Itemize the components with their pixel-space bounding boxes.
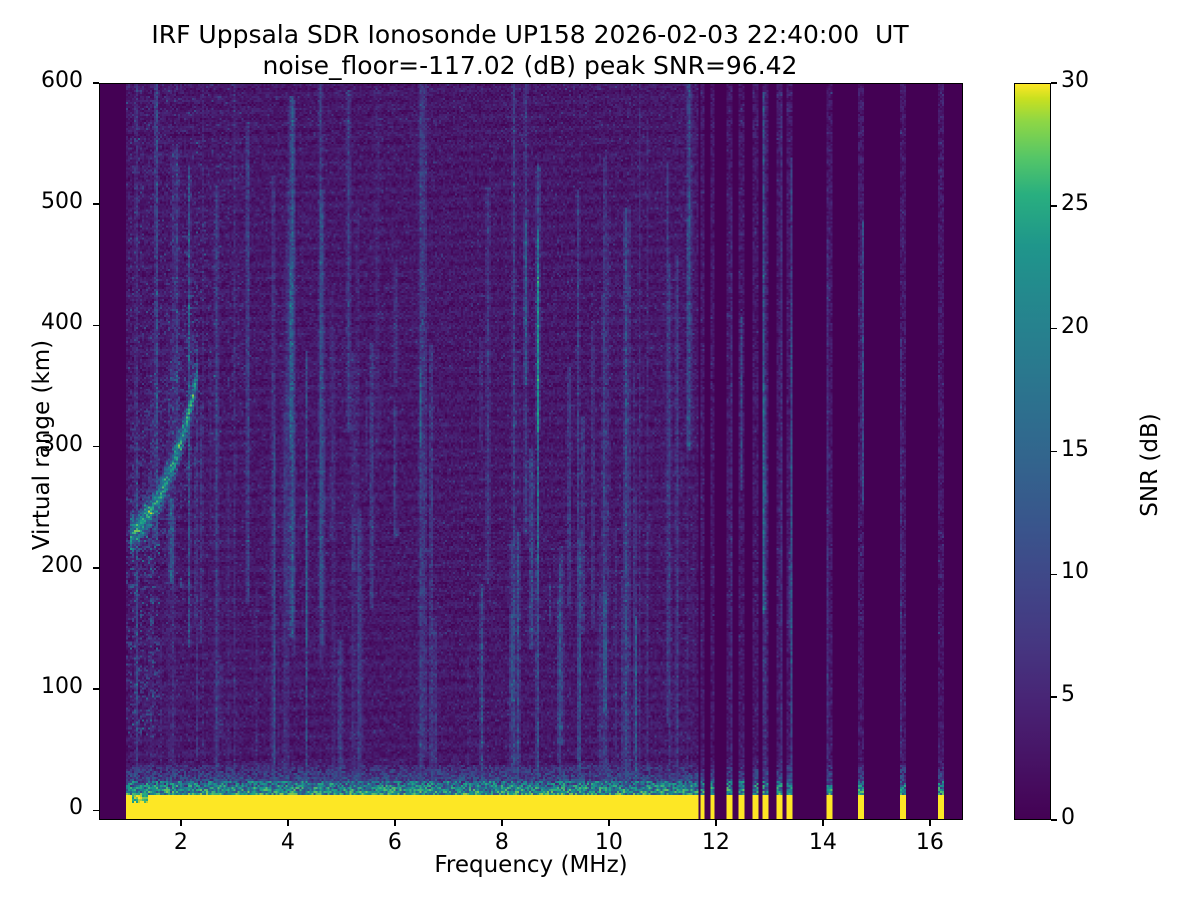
x-tick-mark [287, 820, 289, 826]
y-tick-mark [93, 325, 99, 327]
colorbar-tick-mark [1051, 328, 1057, 330]
colorbar-tick-mark [1051, 82, 1057, 84]
y-axis-label: Virtual range (km) [29, 295, 55, 595]
y-tick-mark [93, 810, 99, 812]
x-axis-label: Frequency (MHz) [99, 852, 963, 878]
colorbar-tick-label: 30 [1061, 68, 1131, 93]
colorbar-tick-mark [1051, 819, 1057, 821]
y-tick-mark [93, 82, 99, 84]
y-tick-mark [93, 203, 99, 205]
title-line-1: IRF Uppsala SDR Ionosonde UP158 2026-02-… [0, 20, 1060, 51]
y-tick-mark [93, 567, 99, 569]
y-tick-label: 0 [13, 795, 83, 820]
colorbar-tick-label: 25 [1061, 191, 1131, 216]
colorbar-tick-mark [1051, 574, 1057, 576]
colorbar-tick-mark [1051, 451, 1057, 453]
x-tick-mark [608, 820, 610, 826]
colorbar-tick-label: 0 [1061, 805, 1131, 830]
y-tick-mark [93, 688, 99, 690]
y-tick-label: 500 [13, 189, 83, 214]
x-tick-mark [180, 820, 182, 826]
y-tick-mark [93, 446, 99, 448]
y-tick-label: 100 [13, 674, 83, 699]
y-tick-label: 600 [13, 68, 83, 93]
colorbar-label: SNR (dB) [1137, 315, 1163, 615]
x-tick-mark [501, 820, 503, 826]
ionogram-heatmap [100, 84, 962, 819]
title-line-2: noise_floor=-117.02 (dB) peak SNR=96.42 [0, 51, 1060, 82]
x-tick-mark [394, 820, 396, 826]
colorbar-tick-label: 20 [1061, 314, 1131, 339]
x-tick-mark [929, 820, 931, 826]
ionogram-figure: IRF Uppsala SDR Ionosonde UP158 2026-02-… [0, 0, 1200, 900]
colorbar-tick-label: 15 [1061, 437, 1131, 462]
x-tick-mark [715, 820, 717, 826]
colorbar-tick-mark [1051, 205, 1057, 207]
ionogram-plot-area[interactable] [99, 83, 963, 820]
x-tick-mark [822, 820, 824, 826]
colorbar-tick-label: 5 [1061, 682, 1131, 707]
colorbar-tick-label: 10 [1061, 559, 1131, 584]
colorbar-tick-mark [1051, 696, 1057, 698]
colorbar[interactable] [1014, 83, 1051, 820]
figure-title: IRF Uppsala SDR Ionosonde UP158 2026-02-… [0, 20, 1060, 81]
